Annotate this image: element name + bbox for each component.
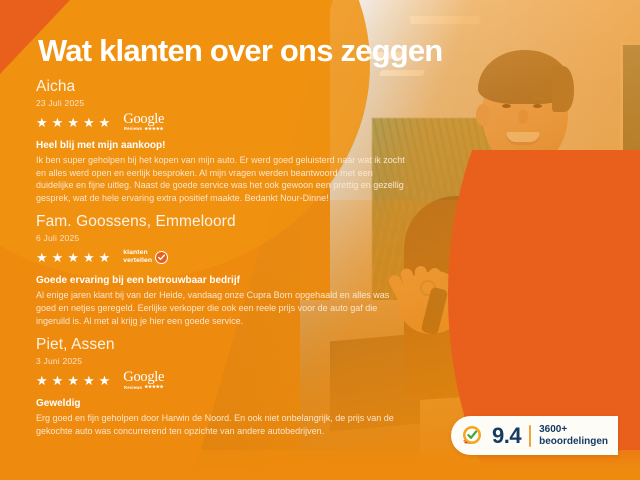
star-icon: ★ — [52, 374, 65, 387]
star-icon: ★ — [67, 374, 80, 387]
reviews-list: Aicha 23 Juli 2025 ★ ★ ★ ★ ★ Google Revi… — [36, 78, 428, 446]
review-meta: ★ ★ ★ ★ ★ klanten vertellen — [36, 247, 428, 267]
google-reviews-logo: Google Reviews ★★★★★ — [123, 112, 164, 132]
star-icon: ★ — [67, 116, 80, 129]
star-icon: ★ — [83, 374, 96, 387]
page-title: Wat klanten over ons zeggen — [38, 33, 442, 69]
review-item: Aicha 23 Juli 2025 ★ ★ ★ ★ ★ Google Revi… — [36, 78, 428, 204]
review-body: Erg goed en fijn geholpen door Harwin de… — [36, 412, 408, 437]
mini-star-icons: ★★★★★ — [144, 127, 163, 132]
verified-check-icon — [155, 251, 168, 264]
checkmark-icon — [158, 254, 165, 261]
klantenvertellen-seal-icon — [460, 424, 484, 448]
rating-count: 3600+ — [539, 424, 608, 436]
review-item: Piet, Assen 3 Juni 2025 ★ ★ ★ ★ ★ Google… — [36, 336, 428, 437]
promo-banner: VDH Wat klanten over ons zeggen Aicha 23… — [0, 0, 640, 480]
star-icon: ★ — [99, 116, 112, 129]
rating-count-block: 3600+ beoordelingen — [539, 424, 608, 447]
review-meta: ★ ★ ★ ★ ★ Google Reviews ★★★★★ — [36, 112, 428, 132]
review-title: Heel blij met mijn aankoop! — [36, 139, 428, 152]
review-date: 6 Juli 2025 — [36, 232, 428, 244]
rating-score: 9.4 — [492, 425, 521, 447]
star-icon: ★ — [36, 374, 49, 387]
star-icon: ★ — [83, 251, 96, 264]
klantenvertellen-line2: vertellen — [123, 257, 152, 265]
star-icon: ★ — [83, 116, 96, 129]
review-body: Al enige jaren klant bij van der Heide, … — [36, 289, 408, 327]
review-date: 23 Juli 2025 — [36, 97, 428, 109]
google-wordmark: Google — [123, 112, 164, 127]
star-rating: ★ ★ ★ ★ ★ — [36, 374, 111, 387]
google-reviews-sublabel: Reviews ★★★★★ — [124, 127, 163, 132]
star-icon: ★ — [52, 116, 65, 129]
rating-count-label: beoordelingen — [539, 436, 608, 448]
star-icon: ★ — [99, 374, 112, 387]
star-icon: ★ — [99, 251, 112, 264]
reviewer-name: Piet, Assen — [36, 336, 428, 354]
review-date: 3 Juni 2025 — [36, 355, 428, 367]
review-title: Geweldig — [36, 397, 428, 410]
reviews-label: Reviews — [124, 386, 142, 390]
verified-check-icon — [460, 424, 484, 448]
reviewer-name: Aicha — [36, 78, 428, 96]
reviewer-name: Fam. Goossens, Emmeloord — [36, 213, 428, 231]
google-wordmark: Google — [123, 370, 164, 385]
mini-star-icons: ★★★★★ — [144, 385, 163, 390]
review-item: Fam. Goossens, Emmeloord 6 Juli 2025 ★ ★… — [36, 213, 428, 327]
star-rating: ★ ★ ★ ★ ★ — [36, 251, 111, 264]
klantenvertellen-wordmark: klanten vertellen — [123, 249, 152, 265]
rating-badge: 9.4 3600+ beoordelingen — [451, 416, 618, 455]
google-reviews-sublabel: Reviews ★★★★★ — [124, 385, 163, 390]
klantenvertellen-line1: klanten — [123, 249, 152, 257]
reviews-label: Reviews — [124, 127, 142, 131]
review-meta: ★ ★ ★ ★ ★ Google Reviews ★★★★★ — [36, 370, 428, 390]
content-layer: Wat klanten over ons zeggen Aicha 23 Jul… — [0, 0, 640, 480]
star-rating: ★ ★ ★ ★ ★ — [36, 116, 111, 129]
review-body: Ik ben super geholpen bij het kopen van … — [36, 154, 408, 204]
star-icon: ★ — [36, 251, 49, 264]
google-reviews-logo: Google Reviews ★★★★★ — [123, 370, 164, 390]
klantenvertellen-logo: klanten vertellen — [123, 249, 168, 265]
badge-divider — [529, 425, 531, 447]
star-icon: ★ — [36, 116, 49, 129]
star-icon: ★ — [67, 251, 80, 264]
review-title: Goede ervaring bij een betrouwbaar bedri… — [36, 274, 428, 287]
star-icon: ★ — [52, 251, 65, 264]
